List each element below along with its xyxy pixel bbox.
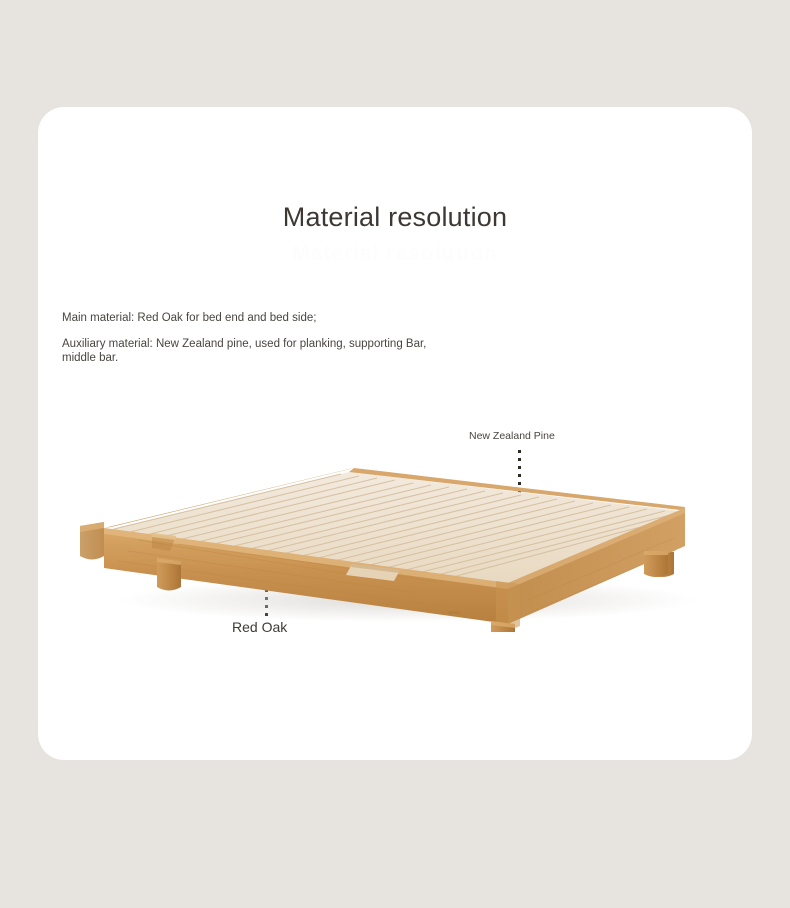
maker-mark [448,611,460,614]
content-card: Material resolution Material resolution … [38,107,752,760]
bed-frame-svg [78,448,718,632]
bed-rail-left-end [80,522,104,560]
page-title: Material resolution [38,202,752,233]
auxiliary-material-text: Auxiliary material: New Zealand pine, us… [62,338,462,365]
description-block: Main material: Red Oak for bed end and b… [62,312,622,365]
title-watermark: Material resolution [38,242,752,266]
callout-label-new-zealand-pine: New Zealand Pine [469,430,555,442]
main-material-text: Main material: Red Oak for bed end and b… [62,312,622,324]
bed-corner-post [496,581,520,629]
page-root: Material resolution Material resolution … [0,0,790,908]
bed-frame-illustration [78,448,718,632]
